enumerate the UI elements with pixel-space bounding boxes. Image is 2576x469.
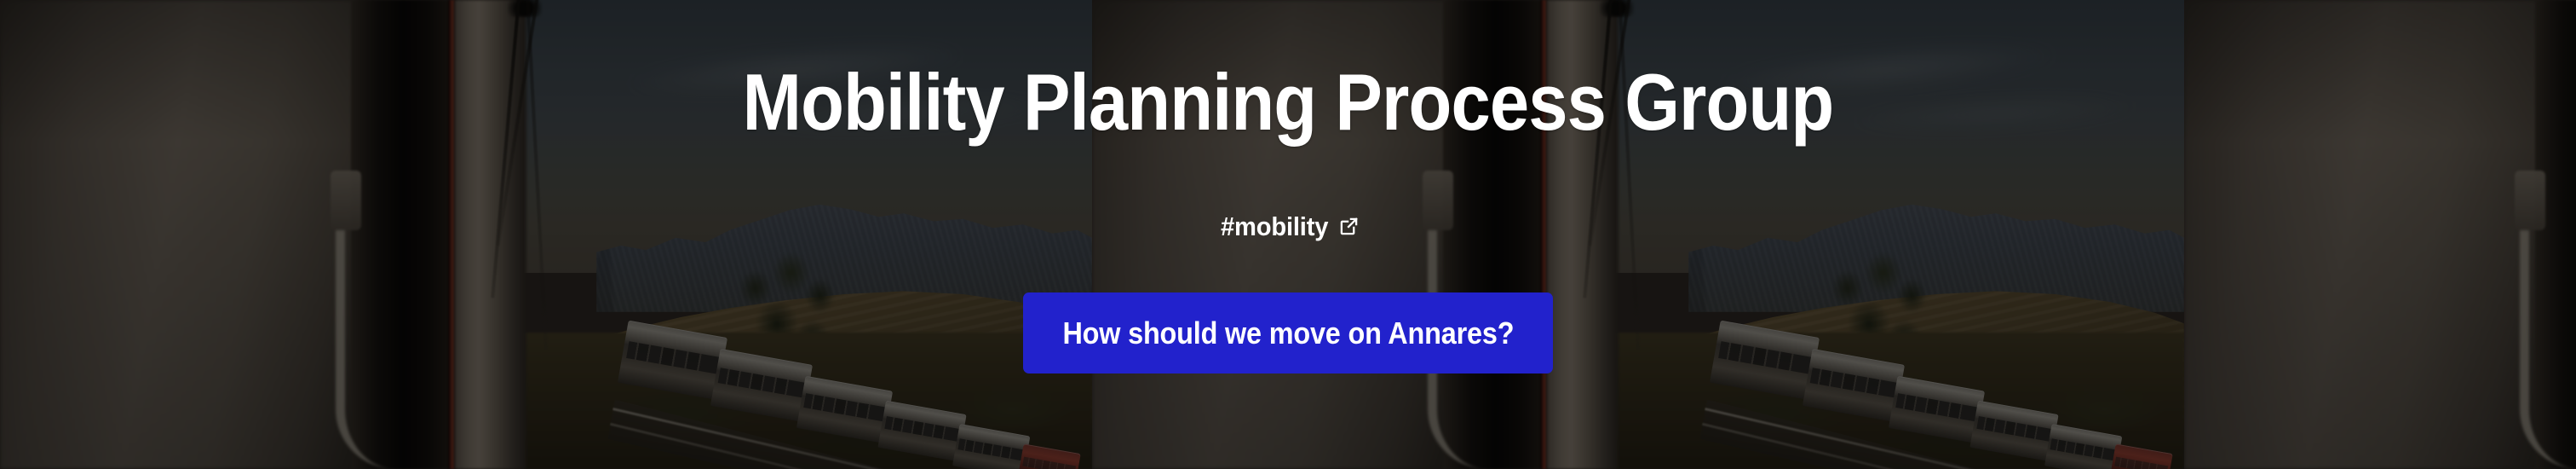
hero-content: Mobility Planning Process Group #mobilit… xyxy=(0,0,2576,469)
cta-button-label: How should we move on Annares? xyxy=(1062,316,1514,351)
page-title: Mobility Planning Process Group xyxy=(148,60,2428,145)
cta-button[interactable]: How should we move on Annares? xyxy=(1023,292,1553,373)
hashtag-link[interactable]: #mobility xyxy=(1221,213,1328,240)
hero-banner: Mobility Planning Process Group #mobilit… xyxy=(0,0,2576,469)
hashtag-row: #mobility xyxy=(0,213,2576,240)
external-link-icon xyxy=(1339,217,1359,236)
